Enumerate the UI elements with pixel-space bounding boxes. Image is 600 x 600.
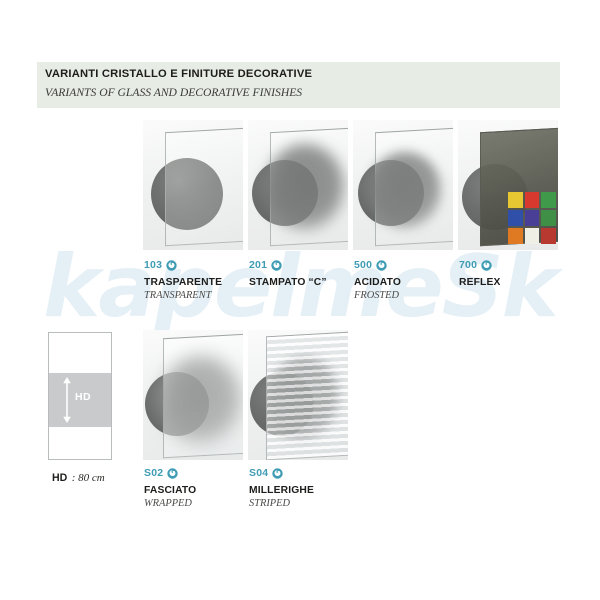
water-drop-icon [167, 468, 178, 479]
sample-code: S04 [249, 467, 268, 479]
sample-code: S02 [144, 467, 163, 479]
water-drop-icon [376, 260, 387, 271]
sample-code: 500 [354, 259, 372, 271]
sample-label-acidato: 500 ACIDATO FROSTED [354, 258, 464, 301]
glass-pane-striped [266, 332, 348, 460]
sample-name-it: ACIDATO [354, 277, 464, 288]
sample-code: 103 [144, 259, 162, 271]
hd-dimension-diagram: HD [48, 332, 112, 460]
sample-name-it: TRASPARENTE [144, 277, 254, 288]
checker-swatch [541, 210, 556, 226]
sample-code: 201 [249, 259, 267, 271]
sample-name-en: TRANSPARENT [144, 290, 254, 301]
page-subtitle: VARIANTS OF GLASS AND DECORATIVE FINISHE… [45, 86, 302, 99]
section-header-band: VARIANTI CRISTALLO E FINITURE DECORATIVE… [37, 62, 560, 108]
sample-name-it: MILLERIGHE [249, 485, 359, 496]
checker-swatch [508, 210, 523, 226]
sample-name-en: STRIPED [249, 498, 359, 509]
sample-label-trasparente: 103 TRASPARENTE TRANSPARENT [144, 258, 254, 301]
code-row: S04 [249, 466, 359, 480]
sample-name-it: REFLEX [459, 277, 569, 288]
hd-caption-value: : 80 cm [72, 472, 105, 484]
sample-label-fasciato: S02 FASCIATO WRAPPED [144, 466, 254, 509]
sample-image-fasciato[interactable] [143, 330, 243, 460]
checker-swatch [508, 228, 523, 244]
code-row: 201 [249, 258, 359, 272]
water-drop-icon [166, 260, 177, 271]
code-row: 500 [354, 258, 464, 272]
sample-name-it: STAMPATO “C” [249, 277, 359, 288]
sphere-through-glass [161, 356, 241, 444]
sample-label-stampato-c: 201 STAMPATO “C” [249, 258, 359, 290]
hd-band-label: HD [75, 391, 91, 403]
page-root: kapelmeSk VARIANTI CRISTALLO E FINITURE … [0, 0, 600, 600]
stripe-pattern [267, 333, 348, 460]
code-row: 700 [459, 258, 569, 272]
checker-swatch [541, 192, 556, 208]
sample-label-millerighe: S04 MILLERIGHE STRIPED [249, 466, 359, 509]
sample-name-en: FROSTED [354, 290, 464, 301]
color-checker-grid [508, 192, 556, 244]
sample-code: 700 [459, 259, 477, 271]
sphere-through-glass [369, 152, 441, 228]
water-drop-icon [481, 260, 492, 271]
sample-label-reflex: 700 REFLEX [459, 258, 569, 290]
sample-name-it: FASCIATO [144, 485, 254, 496]
sample-image-trasparente[interactable] [143, 120, 243, 250]
hd-caption: HD : 80 cm [52, 468, 105, 486]
glass-pane-transparent [165, 128, 243, 246]
checker-swatch [508, 192, 523, 208]
checker-swatch [525, 228, 540, 244]
water-drop-icon [272, 468, 283, 479]
hd-caption-label: HD [52, 472, 67, 484]
sample-image-millerighe[interactable] [248, 330, 348, 460]
sample-name-en: WRAPPED [144, 498, 254, 509]
sample-image-stampato-c[interactable] [248, 120, 348, 250]
sample-image-acidato[interactable] [353, 120, 453, 250]
code-row: S02 [144, 466, 254, 480]
code-row: 103 [144, 258, 254, 272]
checker-swatch [525, 192, 540, 208]
water-drop-icon [271, 260, 282, 271]
page-title: VARIANTI CRISTALLO E FINITURE DECORATIVE [45, 68, 312, 80]
hd-double-arrow-icon [62, 377, 72, 423]
checker-swatch [525, 210, 540, 226]
sphere-through-glass [266, 144, 344, 230]
sample-image-reflex[interactable] [458, 120, 558, 250]
checker-swatch [541, 228, 556, 244]
